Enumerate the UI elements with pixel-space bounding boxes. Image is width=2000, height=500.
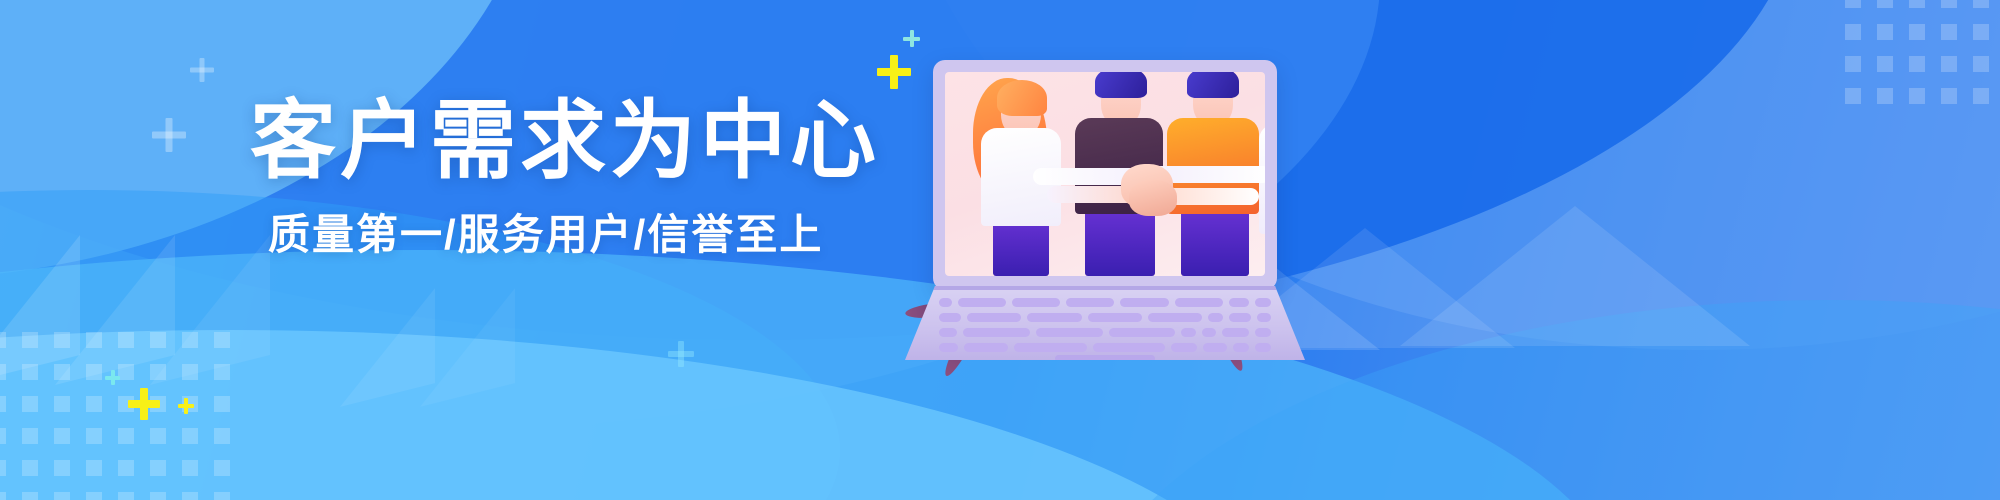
plus-icon-white-large-top bbox=[152, 118, 186, 152]
keyboard-key bbox=[1255, 328, 1271, 337]
keyboard-key bbox=[939, 343, 958, 352]
keyboard-key bbox=[1203, 343, 1227, 352]
plus-icon-yellow-large-bottom-left bbox=[128, 388, 160, 420]
laptop-keyboard bbox=[939, 298, 1271, 352]
keyboard-row bbox=[939, 328, 1271, 337]
dot-grid-bottom-left bbox=[0, 332, 230, 500]
keyboard-key bbox=[1233, 343, 1249, 352]
plus-icon-cyan-midfield bbox=[668, 341, 694, 367]
keyboard-key bbox=[964, 343, 1008, 352]
keyboard-key bbox=[1148, 313, 1202, 322]
keyboard-row bbox=[939, 313, 1271, 322]
keyboard-key bbox=[958, 298, 1006, 307]
keyboard-key bbox=[1171, 343, 1197, 352]
keyboard-key bbox=[1181, 328, 1195, 337]
keyboard-key bbox=[1027, 313, 1081, 322]
laptop-trackpad bbox=[1055, 355, 1155, 362]
keyboard-key bbox=[1109, 328, 1176, 337]
keyboard-row bbox=[939, 343, 1271, 352]
keyboard-key bbox=[1208, 313, 1223, 322]
keyboard-key bbox=[1036, 328, 1103, 337]
keyboard-key bbox=[1066, 298, 1114, 307]
legs bbox=[1181, 204, 1249, 276]
keyboard-key bbox=[1014, 343, 1086, 352]
plus-icon-white-small-top bbox=[190, 58, 214, 82]
keyboard-key bbox=[939, 313, 961, 322]
laptop-illustration bbox=[905, 60, 1305, 360]
keyboard-key bbox=[1202, 328, 1216, 337]
laptop-base bbox=[905, 286, 1305, 360]
keyboard-key bbox=[939, 328, 957, 337]
keyboard-key bbox=[1255, 298, 1271, 307]
hair-front-icon bbox=[997, 80, 1047, 116]
laptop-lid bbox=[933, 60, 1277, 290]
page-title: 客户需求为中心 bbox=[250, 96, 870, 186]
promo-banner: 客户需求为中心 质量第一/服务用户/信誉至上 bbox=[0, 0, 2000, 500]
keyboard-key bbox=[967, 313, 1021, 322]
keyboard-key bbox=[1088, 313, 1142, 322]
keyboard-key bbox=[963, 328, 1030, 337]
laptop-screen bbox=[945, 72, 1265, 276]
keyboard-key bbox=[1229, 298, 1249, 307]
plus-icon-yellow-small-bottom-left bbox=[178, 398, 194, 414]
keyboard-key bbox=[1229, 313, 1251, 322]
hand-stack-icon bbox=[1095, 164, 1199, 210]
plus-icon-cyan-small-center bbox=[903, 30, 920, 47]
keyboard-key bbox=[1222, 328, 1250, 337]
keyboard-key bbox=[1093, 343, 1165, 352]
plus-icon-cyan-bottom-left bbox=[105, 370, 120, 385]
keyboard-key bbox=[1255, 343, 1271, 352]
dot-grid-top-right bbox=[1845, 0, 2000, 104]
keyboard-key bbox=[1120, 298, 1168, 307]
keyboard-key bbox=[939, 298, 952, 307]
keyboard-key bbox=[1257, 313, 1272, 322]
keyboard-row bbox=[939, 298, 1271, 307]
background-wave-bottom bbox=[0, 250, 1620, 500]
hair-front-icon bbox=[1095, 72, 1147, 98]
keyboard-key bbox=[1175, 298, 1223, 307]
headline-block: 客户需求为中心 质量第一/服务用户/信誉至上 bbox=[250, 96, 870, 258]
keyboard-key bbox=[1012, 298, 1060, 307]
hair-front-icon bbox=[1187, 72, 1239, 98]
page-subtitle: 质量第一/服务用户/信誉至上 bbox=[268, 212, 870, 258]
